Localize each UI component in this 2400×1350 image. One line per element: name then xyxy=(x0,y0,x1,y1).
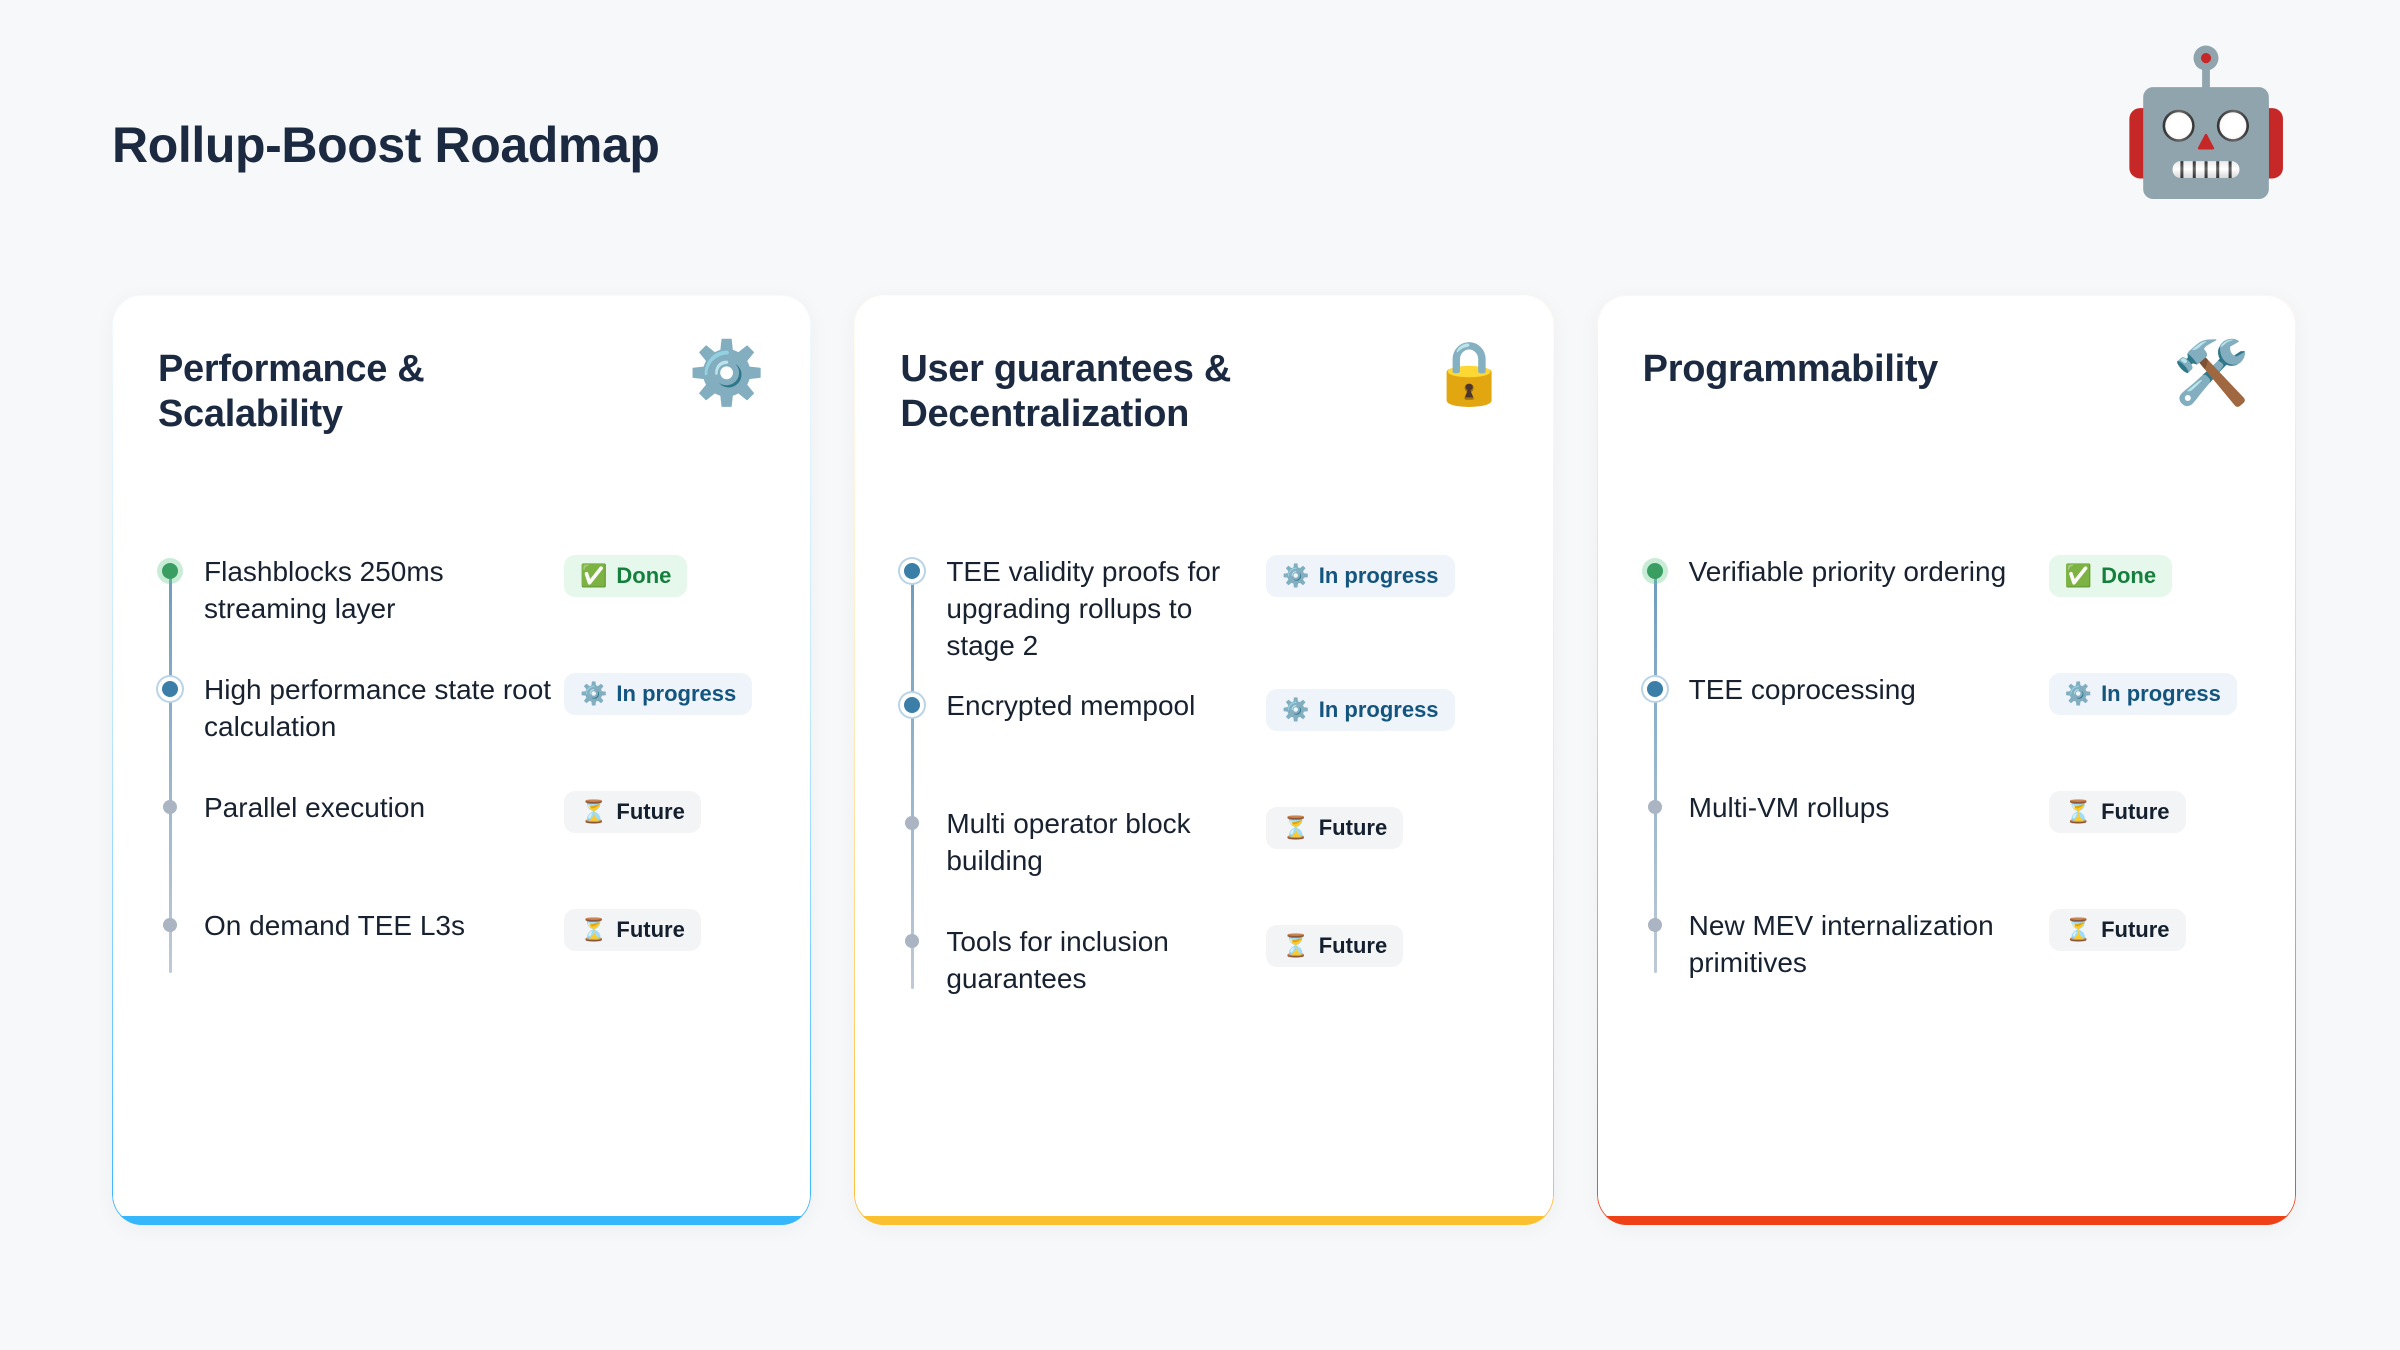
roadmap-card-user-guarantees-decentralization: User guarantees & Decentralization 🔒 TEE… xyxy=(854,295,1553,1225)
timeline-item[interactable]: Encrypted mempool ⚙️ In progress xyxy=(900,687,1507,783)
roadmap-columns: Performance & Scalability ⚙️ Flashblocks… xyxy=(112,295,2296,1225)
status-badge: ⏳ Future xyxy=(2049,791,2186,833)
timeline-dot-in-progress xyxy=(1643,677,1667,701)
card-header: User guarantees & Decentralization 🔒 xyxy=(900,347,1507,507)
status-badge: ⏳ Future xyxy=(2049,909,2186,951)
status-badge: ⚙️ In progress xyxy=(2049,673,2237,715)
timeline-item[interactable]: Verifiable priority ordering ✅ Done xyxy=(1643,553,2250,649)
timeline: Flashblocks 250ms streaming layer ✅ Done… xyxy=(158,553,765,1003)
status-badge-label: Future xyxy=(616,799,684,825)
timeline-item[interactable]: High performance state root calculation … xyxy=(158,671,765,767)
roadmap-card-programmability: Programmability 🛠️ Verifiable priority o… xyxy=(1597,295,2296,1225)
timeline-dot-future xyxy=(1643,913,1667,937)
timeline-item-label: Flashblocks 250ms streaming layer xyxy=(204,553,564,627)
timeline-dot-future xyxy=(158,795,182,819)
status-badge-label: Future xyxy=(616,917,684,943)
timeline-item-label: Verifiable priority ordering xyxy=(1689,553,2049,590)
hourglass-icon: ⏳ xyxy=(2065,801,2092,823)
status-badge: ✅ Done xyxy=(2049,555,2172,597)
check-mark-button-icon: ✅ xyxy=(2065,565,2092,587)
status-badge-label: In progress xyxy=(1319,697,1439,723)
status-badge: ⏳ Future xyxy=(564,909,701,951)
timeline-item-label: Multi operator block building xyxy=(946,805,1266,879)
status-badge-label: Future xyxy=(2101,917,2169,943)
hourglass-icon: ⏳ xyxy=(580,801,607,823)
status-badge-label: Future xyxy=(2101,799,2169,825)
lock-icon: 🔒 xyxy=(1430,343,1507,405)
timeline-dot-done xyxy=(1643,559,1667,583)
status-badge: ✅ Done xyxy=(564,555,687,597)
status-badge-label: Done xyxy=(616,563,671,589)
timeline-dot-done xyxy=(158,559,182,583)
status-badge: ⏳ Future xyxy=(1266,925,1403,967)
timeline-item[interactable]: Flashblocks 250ms streaming layer ✅ Done xyxy=(158,553,765,649)
timeline-item[interactable]: TEE validity proofs for upgrading rollup… xyxy=(900,553,1507,665)
timeline-item[interactable]: Multi operator block building ⏳ Future xyxy=(900,805,1507,901)
timeline-item[interactable]: Parallel execution ⏳ Future xyxy=(158,789,765,885)
page-header: Rollup-Boost Roadmap 🤖 xyxy=(0,0,2400,290)
card-header: Performance & Scalability ⚙️ xyxy=(158,347,765,507)
timeline-dot-in-progress xyxy=(158,677,182,701)
status-badge: ⚙️ In progress xyxy=(1266,555,1454,597)
timeline-item[interactable]: New MEV internalization primitives ⏳ Fut… xyxy=(1643,907,2250,1003)
status-badge-label: Done xyxy=(2101,563,2156,589)
card-header: Programmability 🛠️ xyxy=(1643,347,2250,507)
timeline-dot-future xyxy=(900,929,924,953)
timeline: TEE validity proofs for upgrading rollup… xyxy=(900,553,1507,1019)
roadmap-card-performance-scalability: Performance & Scalability ⚙️ Flashblocks… xyxy=(112,295,811,1225)
card-title: User guarantees & Decentralization xyxy=(900,347,1330,437)
timeline-dot-in-progress xyxy=(900,559,924,583)
status-badge-label: Future xyxy=(1319,815,1387,841)
timeline-item-label: Tools for inclusion guarantees xyxy=(946,923,1266,997)
gear-icon: ⚙️ xyxy=(688,343,765,405)
hourglass-icon: ⏳ xyxy=(1282,935,1309,957)
status-badge: ⏳ Future xyxy=(1266,807,1403,849)
robot-lightning-icon: 🤖 xyxy=(2122,38,2290,206)
timeline-item-label: New MEV internalization primitives xyxy=(1689,907,2049,981)
card-title: Programmability xyxy=(1643,347,2073,392)
timeline: Verifiable priority ordering ✅ Done TEE … xyxy=(1643,553,2250,1003)
timeline-item-label: Parallel execution xyxy=(204,789,564,826)
timeline-item-label: High performance state root calculation xyxy=(204,671,564,745)
status-badge-label: In progress xyxy=(1319,563,1439,589)
timeline-item-label: TEE validity proofs for upgrading rollup… xyxy=(946,553,1266,665)
timeline-item[interactable]: On demand TEE L3s ⏳ Future xyxy=(158,907,765,1003)
gear-icon: ⚙️ xyxy=(1282,699,1309,721)
timeline-item[interactable]: TEE coprocessing ⚙️ In progress xyxy=(1643,671,2250,767)
timeline-item-label: Multi-VM rollups xyxy=(1689,789,2049,826)
timeline-dot-future xyxy=(158,913,182,937)
timeline-dot-future xyxy=(900,811,924,835)
check-mark-button-icon: ✅ xyxy=(580,565,607,587)
status-badge: ⏳ Future xyxy=(564,791,701,833)
status-badge-label: In progress xyxy=(2101,681,2221,707)
gear-icon: ⚙️ xyxy=(1282,565,1309,587)
timeline-item-label: TEE coprocessing xyxy=(1689,671,2049,708)
hourglass-icon: ⏳ xyxy=(1282,817,1309,839)
status-badge: ⚙️ In progress xyxy=(564,673,752,715)
gear-icon: ⚙️ xyxy=(580,683,607,705)
timeline-item[interactable]: Tools for inclusion guarantees ⏳ Future xyxy=(900,923,1507,1019)
card-title: Performance & Scalability xyxy=(158,347,588,437)
page-title: Rollup-Boost Roadmap xyxy=(112,118,660,173)
hourglass-icon: ⏳ xyxy=(580,919,607,941)
status-badge-label: In progress xyxy=(616,681,736,707)
timeline-dot-in-progress xyxy=(900,693,924,717)
timeline-dot-future xyxy=(1643,795,1667,819)
timeline-item-label: On demand TEE L3s xyxy=(204,907,564,944)
status-badge: ⚙️ In progress xyxy=(1266,689,1454,731)
gear-icon: ⚙️ xyxy=(2065,683,2092,705)
timeline-item[interactable]: Multi-VM rollups ⏳ Future xyxy=(1643,789,2250,885)
hourglass-icon: ⏳ xyxy=(2065,919,2092,941)
status-badge-label: Future xyxy=(1319,933,1387,959)
hammer-and-wrench-icon: 🛠️ xyxy=(2173,343,2250,405)
timeline-item-label: Encrypted mempool xyxy=(946,687,1266,724)
